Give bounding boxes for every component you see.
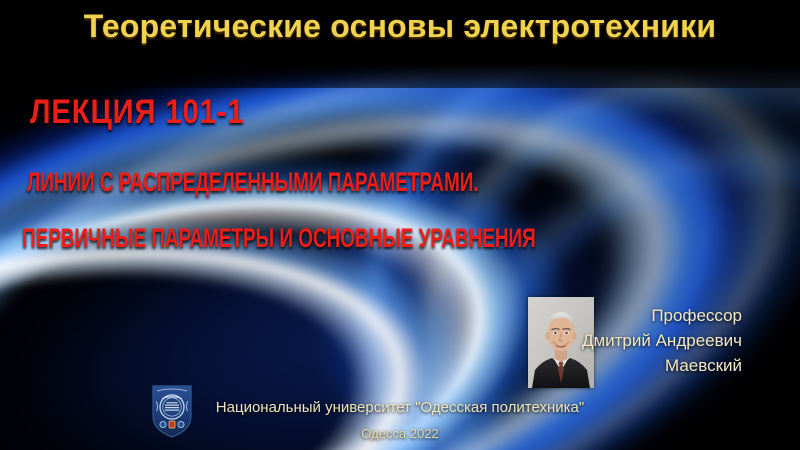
city-and-year: Одесса 2022 xyxy=(0,426,800,441)
presenter-surname: Маевский xyxy=(492,353,742,378)
presentation-slide: Теоретические основы электротехники ЛЕКЦ… xyxy=(0,0,800,450)
lecture-number: ЛЕКЦИЯ 101-1 xyxy=(30,93,244,132)
course-title: Теоретические основы электротехники xyxy=(0,8,800,45)
presenter-info: Профессор Дмитрий Андреевич Маевский xyxy=(492,303,742,378)
university-name: Национальный университет "Одесская полит… xyxy=(0,399,800,416)
right-arc-inner xyxy=(410,98,800,450)
lecture-topic-line-1: ЛИНИИ С РАСПРЕДЕЛЕННЫМИ ПАРАМЕТРАМИ. xyxy=(27,167,479,198)
presenter-role: Профессор xyxy=(492,303,742,328)
lecture-topic-line-2: ПЕРВИЧНЫЕ ПАРАМЕТРЫ И ОСНОВНЫЕ УРАВНЕНИЯ xyxy=(22,223,536,254)
presenter-name-patronymic: Дмитрий Андреевич xyxy=(492,328,742,353)
